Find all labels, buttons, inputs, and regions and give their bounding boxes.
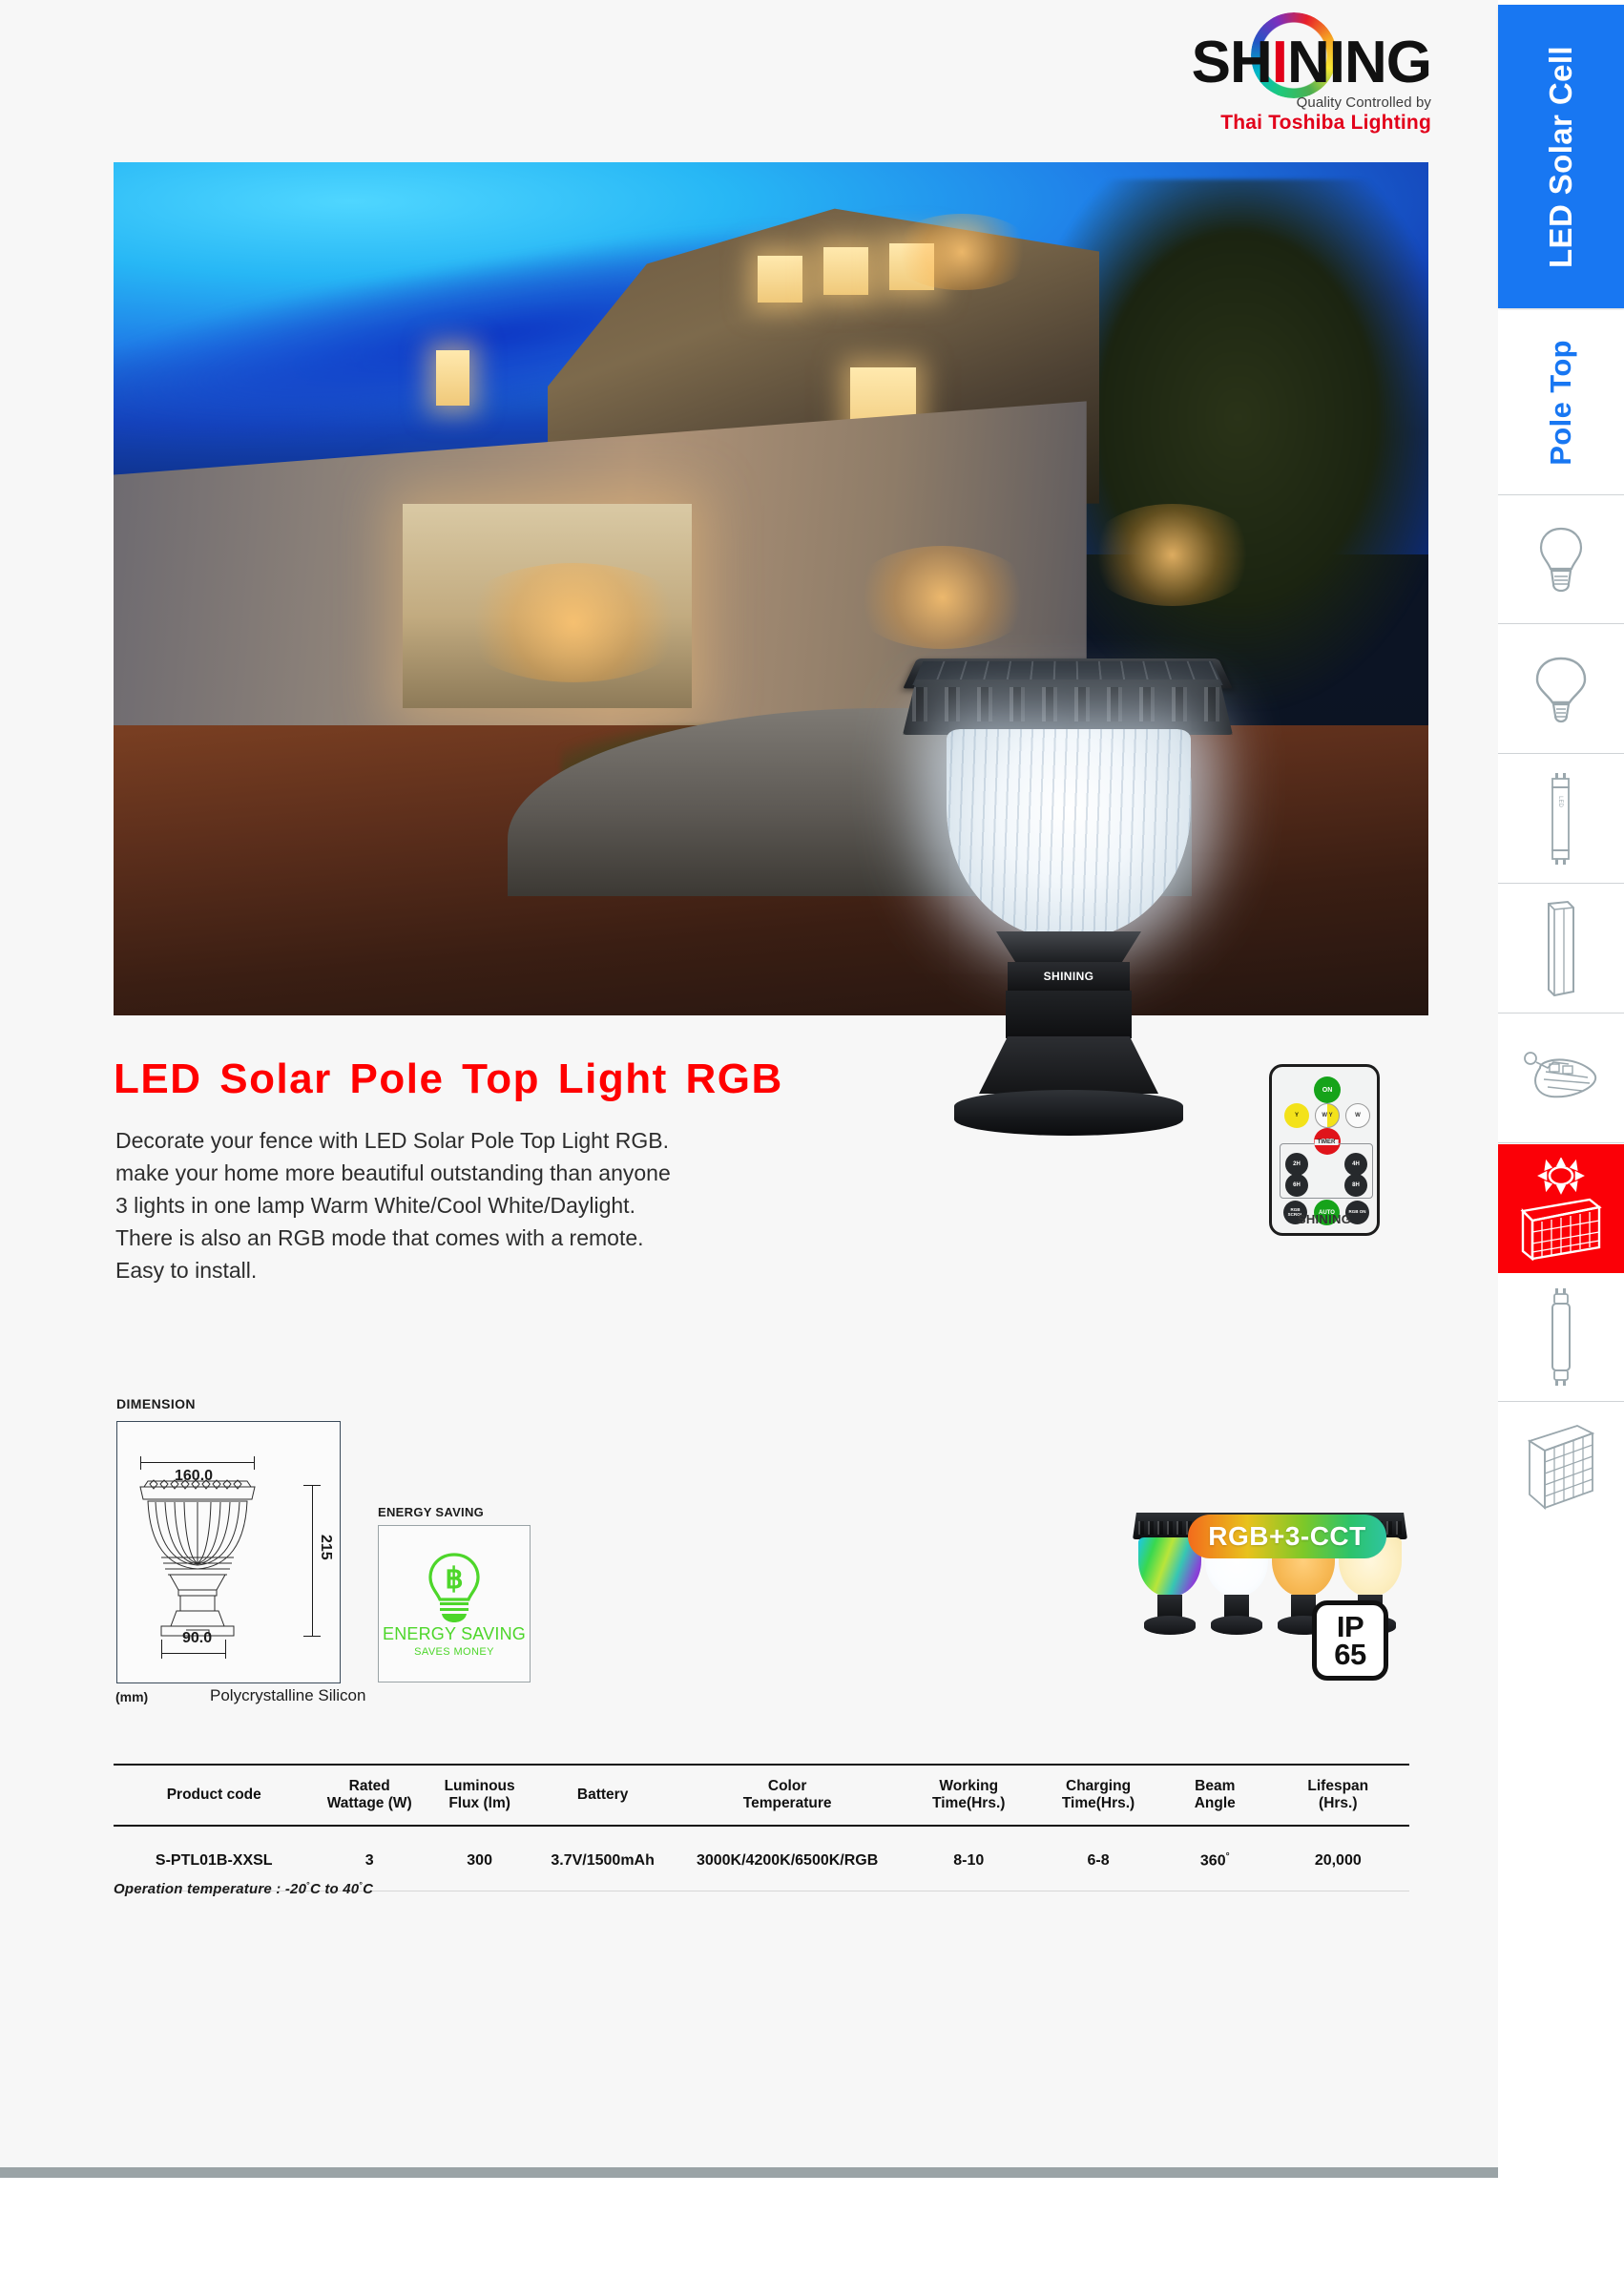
dimension-width-top-line [140,1462,255,1463]
dimension-bot-ext-left [161,1640,162,1659]
highbay-icon [1521,1049,1601,1108]
cell-charging-time: 6-8 [1033,1826,1163,1891]
remote-button-wy: W Y [1315,1103,1340,1128]
description-line: make your home more beautiful outstandin… [115,1157,726,1189]
sidebar-tab-pole-top[interactable]: Pole Top [1498,310,1624,495]
sidebar-item-led-tube[interactable]: LED [1498,755,1624,884]
rgb-cct-badge-label: RGB+3-CCT [1208,1521,1366,1552]
dimension-unit: (mm) [115,1689,148,1704]
dimension-width-bottom-value: 90.0 [182,1630,212,1647]
dimension-material: Polycrystalline Silicon [210,1686,365,1705]
col-header-battery: Battery [534,1765,671,1826]
sidebar-item-linear-tube[interactable] [1498,1273,1624,1402]
lamp-foot [979,1036,1158,1094]
description-line: Decorate your fence with LED Solar Pole … [115,1124,726,1157]
product-lamp-image: SHINING [897,630,1240,1260]
bulb-flood-icon [1534,655,1588,723]
hero-window [823,247,868,294]
brand-wordmark: SHINING [1192,33,1431,93]
remote-button-8h: 8H [1344,1174,1367,1197]
variant-base [1144,1616,1196,1635]
rgb-cct-badge: RGB+3-CCT [1188,1515,1386,1558]
op-temp-value-b: C to 40 [310,1881,359,1897]
remote-button-4h: 4H [1344,1153,1367,1176]
datasheet-page: SHINING Quality Controlled by Thai Toshi… [0,0,1498,2167]
wordmark-part1: SH [1192,30,1272,95]
col-header-color-temperature: ColorTemperature [671,1765,904,1826]
energy-saving-section-label: ENERGY SAVING [378,1505,484,1519]
description-line: Easy to install. [115,1254,726,1286]
brand-logo: SHINING Quality Controlled by Thai Toshi… [1145,33,1431,135]
cell-lifespan: 20,000 [1267,1826,1409,1891]
sidebar-item-solar-panel[interactable] [1498,1144,1624,1273]
operation-temperature-note: Operation temperature : -20°C to 40°C [114,1880,373,1897]
hero-tree [1060,179,1428,708]
brand-company: Thai Toshiba Lighting [1145,112,1431,135]
energy-saving-title: ENERGY SAVING [383,1624,526,1644]
op-temp-value-c: C [363,1881,373,1897]
product-description: Decorate your fence with LED Solar Pole … [115,1124,726,1286]
hood-pattern [903,687,1233,721]
dimension-height-line [312,1485,313,1636]
col-header-lifespan: Lifespan(Hrs.) [1267,1765,1409,1826]
dimension-width-bottom-line [161,1653,226,1654]
cell-battery: 3.7V/1500mAh [534,1826,671,1891]
lamp-band-logo: SHINING [1044,970,1094,983]
sidebar-subtab-label: Pole Top [1544,340,1578,466]
sidebar-item-highbay[interactable] [1498,1014,1624,1143]
led-tube-icon: LED [1547,771,1575,867]
page-title: LED Solar Pole Top Light RGB [114,1055,783,1103]
col-header-charging-time: ChargingTime(Hrs.) [1033,1765,1163,1826]
sidebar-item-batten[interactable] [1498,885,1624,1014]
remote-button-on: ON [1314,1076,1341,1103]
dimension-bot-ext-right [225,1640,226,1659]
energy-saving-subtitle: SAVES MONEY [414,1646,494,1658]
hero-window [436,350,470,406]
panel-grille-icon [1524,1422,1598,1514]
page-bottom-bar [0,2167,1498,2178]
lamp-hood [903,679,1233,735]
col-header-rated-wattage: RatedWattage (W) [314,1765,424,1826]
dimension-height-tick-bottom [303,1636,321,1637]
sidebar-item-panel-grille[interactable] [1498,1403,1624,1532]
sidebar-tab-led-solar-cell[interactable]: LED Solar Cell [1498,5,1624,308]
remote-button-w: W [1345,1103,1370,1128]
op-temp-value-a: -20 [285,1881,306,1897]
sidebar-item-bulb-flood[interactable] [1498,625,1624,754]
remote-brand-logo: SHINING [1272,1212,1377,1226]
cell-luminous-flux: 300 [425,1826,534,1891]
batten-icon [1541,900,1581,997]
table-header-row: Product code RatedWattage (W) LuminousFl… [114,1765,1409,1826]
dimension-section-label: DIMENSION [116,1396,196,1411]
cell-beam-angle: 360° [1163,1826,1267,1891]
cell-working-time: 8-10 [904,1826,1033,1891]
linear-tube-icon [1547,1286,1575,1388]
specification-table: Product code RatedWattage (W) LuminousFl… [114,1764,1409,1891]
baht-symbol: ฿ [445,1563,463,1595]
lamp-stem [1006,991,1132,1038]
ip-badge-line1: IP [1337,1613,1364,1641]
energy-saving-badge: ฿ ENERGY SAVING SAVES MONEY [378,1525,531,1682]
cell-color-temperature: 3000K/4200K/6500K/RGB [671,1826,904,1891]
variant-base [1211,1616,1262,1635]
remote-button-2h: 2H [1285,1153,1308,1176]
lamp-globe [947,729,1191,939]
dimension-drawing: 160.0 [116,1421,341,1683]
description-line: 3 lights in one lamp Warm White/Cool Whi… [115,1189,726,1222]
wordmark-i-red: I [1272,30,1287,95]
remote-timer-label: TIMER [1315,1139,1339,1145]
remote-button-y: Y [1284,1103,1309,1128]
lamp-collar [996,931,1141,964]
dimension-height-tick-top [303,1485,321,1486]
col-header-luminous-flux: LuminousFlux (lm) [425,1765,534,1826]
hero-light-glow [455,563,692,682]
col-header-product-code: Product code [114,1765,314,1826]
col-header-working-time: WorkingTime(Hrs.) [904,1765,1033,1826]
dimension-height-value: 215 [317,1535,334,1560]
led-tube-text: LED [1557,796,1563,807]
hero-light-glow [1087,504,1258,606]
rgb-color-variants: RGB+3-CCT [1131,1341,1436,1513]
wordmark-part2: NING [1287,30,1431,95]
remote-button-6h: 6H [1285,1174,1308,1197]
globe-ribs [947,729,1191,939]
sidebar-item-bulb-a[interactable] [1498,495,1624,624]
ip-rating-badge: IP 65 [1312,1600,1388,1681]
lamp-base [954,1090,1183,1136]
op-temp-label: Operation temperature : [114,1881,281,1897]
category-sidebar: LED Solar Cell Pole Top LED [1498,0,1624,2278]
lamp-brand-band: SHINING [1008,962,1130,991]
ip-badge-line2: 65 [1334,1641,1365,1668]
bulb-a-icon [1536,525,1586,594]
hero-light-glow [889,214,1034,290]
remote-control-image: ON Y W Y W OFF TIMER 2H 4H 6H 8H RGB SCR… [1269,1064,1380,1236]
solar-panel-icon [1517,1158,1605,1261]
description-line: There is also an RGB mode that comes wit… [115,1222,726,1254]
hero-window [758,256,802,303]
col-header-beam-angle: BeamAngle [1163,1765,1267,1826]
sidebar-tab-label: LED Solar Cell [1543,46,1579,268]
lamp-outline-drawing [117,1468,340,1649]
energy-saving-bulb-icon: ฿ [420,1550,489,1622]
